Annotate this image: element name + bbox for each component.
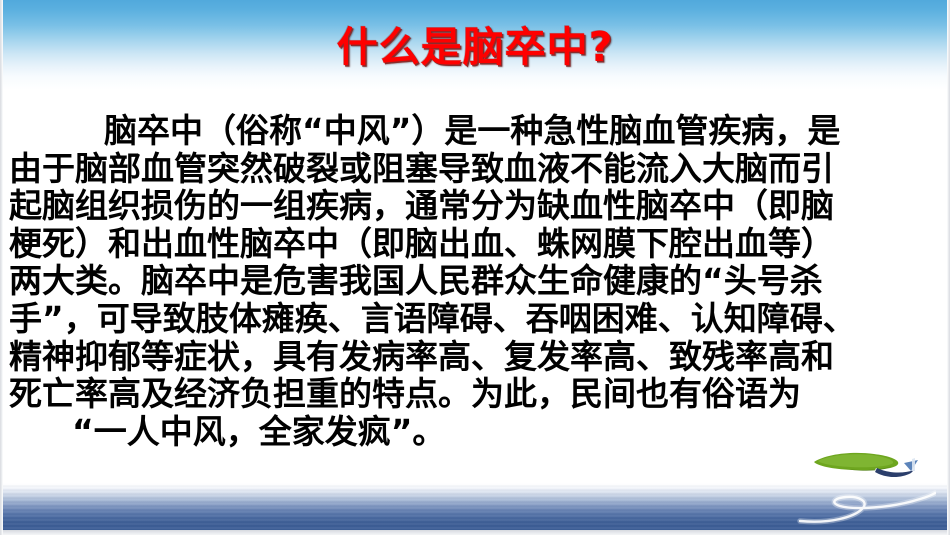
slide-title: 什么是脑卒中? [337,13,614,73]
body-line: 手”，可导致肢体瘫痪、言语障碍、吞咽困难、认知障碍、 [8,300,942,338]
body-line: 死亡率高及经济负担重的特点。为此，民间也有俗语为 [8,375,942,413]
green-leaf-icon [814,453,898,471]
slide-canvas: 什么是脑卒中? 脑卒中（俗称“中风”）是一种急性脑血管疾病，是 由于脑部血管突然… [0,0,950,535]
slide-bottom-edge [0,530,950,535]
body-line: 精神抑郁等症状，具有发病率高、复发率高、致残率高和 [8,338,942,376]
slide-title-container: 什么是脑卒中? [0,14,950,72]
body-line: 梗死）和出血性脑卒中（即脑出血、蛛网膜下腔出血等） [8,225,942,263]
leaf-and-boat-decoration [812,449,930,487]
body-line: “一人中风，全家发疯”。 [8,413,942,451]
body-line: 脑卒中（俗称“中风”）是一种急性脑血管疾病，是 [8,112,942,150]
boat-wake-icon [796,487,936,527]
body-line: 由于脑部血管突然破裂或阻塞导致血液不能流入大脑而引 [8,150,942,188]
body-line: 两大类。脑卒中是危害我国人民群众生命健康的“头号杀 [8,262,942,300]
slide-body: 脑卒中（俗称“中风”）是一种急性脑血管疾病，是 由于脑部血管突然破裂或阻塞导致血… [0,112,950,450]
body-line: 起脑组织损伤的一组疾病，通常分为缺血性脑卒中（即脑 [8,187,942,225]
slide-left-edge [0,0,3,535]
